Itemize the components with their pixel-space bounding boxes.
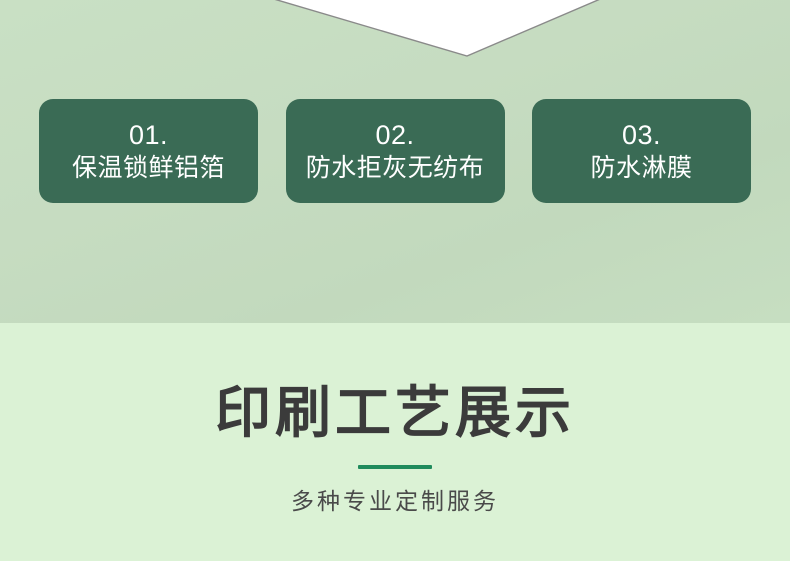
section-heading: 印刷工艺展示: [215, 386, 575, 442]
feature-card-label: 防水拒灰无纺布: [306, 152, 485, 183]
feature-card-list: 01. 保温锁鲜铝箔 02. 防水拒灰无纺布 03. 防水淋膜: [39, 99, 751, 203]
feature-card-number: 01.: [129, 121, 168, 149]
section-subheading: 多种专业定制服务: [291, 491, 499, 514]
heading-divider: [358, 465, 432, 469]
feature-card-number: 02.: [375, 121, 414, 149]
features-section: 01. 保温锁鲜铝箔 02. 防水拒灰无纺布 03. 防水淋膜: [0, 0, 790, 323]
feature-card-02[interactable]: 02. 防水拒灰无纺布: [286, 99, 505, 203]
feature-card-number: 03.: [622, 121, 661, 149]
feature-card-label: 防水淋膜: [590, 152, 692, 183]
white-chevron-icon: [0, 0, 790, 59]
print-process-section: 印刷工艺展示 多种专业定制服务: [0, 323, 790, 561]
product-detail-page: 01. 保温锁鲜铝箔 02. 防水拒灰无纺布 03. 防水淋膜 印刷工艺展示 多…: [0, 0, 790, 561]
feature-card-01[interactable]: 01. 保温锁鲜铝箔: [39, 99, 258, 203]
feature-card-03[interactable]: 03. 防水淋膜: [532, 99, 751, 203]
chevron-divider: [0, 0, 790, 59]
chevron-shape: [267, 0, 605, 56]
feature-card-label: 保温锁鲜铝箔: [72, 152, 225, 183]
